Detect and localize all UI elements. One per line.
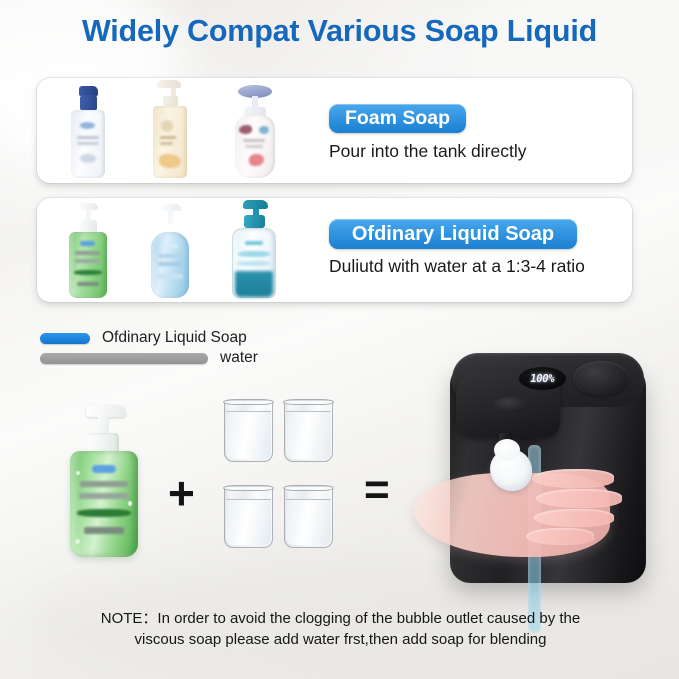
- note-text: NOTE：In order to avoid the clogging of t…: [48, 608, 633, 651]
- legend-row-soap: Ofdinary Liquid Soap: [40, 332, 247, 344]
- bottle-pump-head-icon: [157, 80, 181, 88]
- water-glass-4: [284, 486, 333, 548]
- finger: [532, 469, 614, 488]
- automatic-foam-soap-dispenser: 100%: [432, 345, 660, 585]
- foam-blob-top: [494, 439, 520, 461]
- legend-swatch-water: [40, 353, 208, 364]
- finger: [526, 528, 594, 545]
- plus-operator: +: [168, 470, 195, 516]
- page-title: Widely Compat Various Soap Liquid: [0, 14, 679, 49]
- bottle-cream-foam-pump: [153, 80, 187, 178]
- ratio-legend: Ofdinary Liquid Soap water: [40, 330, 360, 374]
- bottle-body: [69, 232, 107, 298]
- bottle-body: [232, 228, 276, 298]
- subtitle-foam-soap: Pour into the tank directly: [329, 141, 526, 162]
- bottle-neck: [244, 215, 265, 228]
- glass-water-fill: [226, 499, 271, 545]
- note-label: NOTE：: [101, 610, 158, 627]
- glass-rim: [283, 399, 334, 405]
- bottle-blue-liquid-pump: [151, 204, 189, 298]
- note-line-2: viscous soap please add water frst,then …: [48, 629, 633, 650]
- bottle-body: [70, 451, 138, 557]
- bottle-body: [235, 115, 275, 178]
- water-glass-2: [284, 400, 333, 462]
- motion-sensor-icon: [494, 397, 528, 412]
- badge-ordinary-liquid-soap: Ofdinary Liquid Soap: [329, 219, 577, 249]
- equation-green-soap-bottle: [70, 405, 138, 557]
- bottle-floral-foam-pump: [235, 85, 275, 178]
- bottle-green-liquid-pump: [69, 203, 107, 298]
- glass-rim: [223, 399, 274, 405]
- led-display: 100%: [519, 367, 566, 390]
- water-glass-3: [224, 486, 273, 548]
- equals-operator: =: [364, 468, 390, 512]
- panel-ordinary-liquid-soap: [37, 198, 632, 302]
- glass-rim: [283, 485, 334, 491]
- finger: [536, 489, 622, 508]
- bottle-neck: [80, 95, 97, 111]
- subtitle-ordinary-liquid-soap: Duliutd with water at a 1:3-4 ratio: [329, 256, 585, 277]
- water-glass-1: [224, 400, 273, 462]
- dispenser-tank-lid-knob[interactable]: [573, 361, 629, 396]
- badge-foam-soap: Foam Soap: [329, 104, 466, 133]
- led-display-value: 100%: [529, 372, 555, 385]
- legend-label-soap: Ofdinary Liquid Soap: [102, 329, 247, 347]
- note-line-1: In order to avoid the clogging of the bu…: [157, 610, 580, 627]
- bottle-teal-liquid-pump: [232, 200, 276, 298]
- legend-row-water: water: [40, 352, 258, 364]
- infographic-canvas: Widely Compat Various Soap Liquid: [0, 0, 679, 679]
- glass-rim: [223, 485, 274, 491]
- bottle-body: [151, 232, 189, 298]
- glass-water-fill: [226, 411, 271, 459]
- bottle-white-foam-pump: [71, 86, 105, 178]
- bottle-body: [71, 110, 105, 178]
- glass-water-fill: [286, 411, 331, 459]
- bottle-body: [153, 106, 187, 178]
- finger: [534, 509, 614, 527]
- glass-water-fill: [286, 499, 331, 545]
- legend-label-water: water: [220, 349, 258, 367]
- legend-swatch-soap: [40, 333, 90, 344]
